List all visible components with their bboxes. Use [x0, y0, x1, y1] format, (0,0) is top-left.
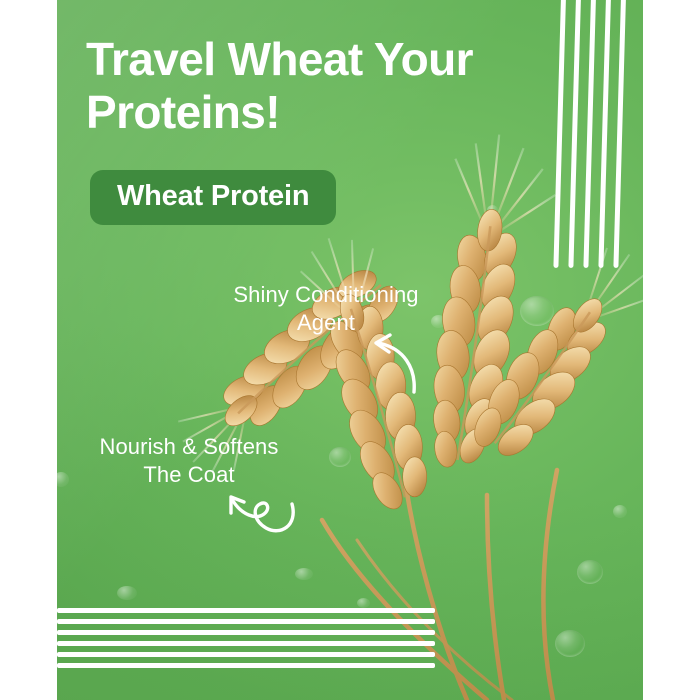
water-droplet-icon — [487, 205, 498, 215]
stripe — [57, 663, 435, 668]
water-droplet-icon — [357, 598, 370, 608]
water-droplet-icon — [329, 447, 351, 467]
horizontal-stripe-decoration — [57, 608, 435, 668]
annotation-shiny-conditioning-agent: Shiny Conditioning Agent — [198, 281, 454, 337]
stripe — [568, 0, 581, 268]
page-title: Travel Wheat Your Proteins! — [86, 33, 556, 140]
status-badge: Wheat Protein — [90, 170, 336, 225]
water-droplet-icon — [520, 296, 554, 326]
vertical-stripe-decoration — [561, 0, 645, 268]
annotation-nourish-softens-the-coat: Nourish & Softens The Coat — [64, 433, 314, 489]
stripe — [613, 0, 626, 268]
water-droplet-icon — [295, 568, 313, 580]
water-droplet-icon — [482, 350, 494, 361]
stripe — [57, 652, 435, 657]
water-droplet-icon — [613, 505, 627, 518]
water-droplet-icon — [555, 630, 585, 657]
stripe — [583, 0, 596, 268]
water-droplet-icon — [117, 586, 137, 600]
stripe — [57, 641, 435, 646]
stripe — [57, 608, 435, 613]
stripe — [57, 630, 435, 635]
stripe — [598, 0, 611, 268]
stripe — [57, 619, 435, 624]
poster-canvas: Travel Wheat Your Proteins! Wheat Protei… — [0, 0, 700, 700]
water-droplet-icon — [577, 560, 603, 584]
